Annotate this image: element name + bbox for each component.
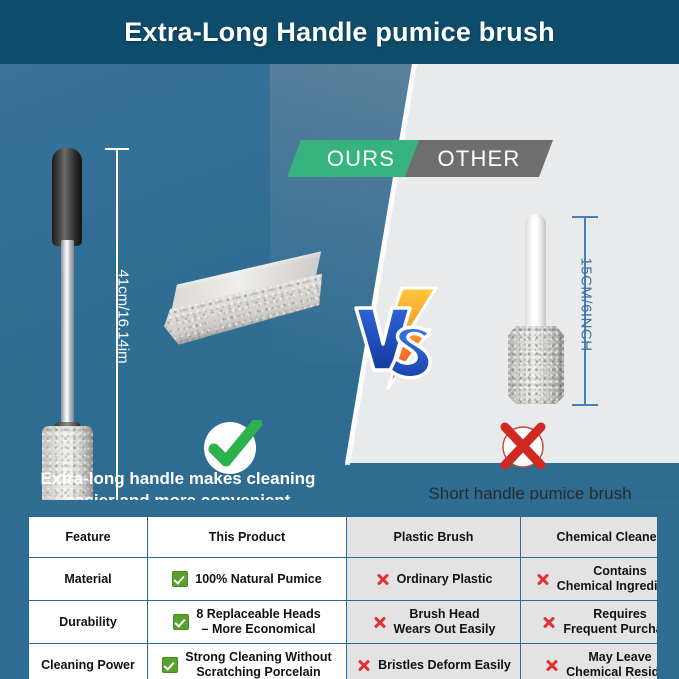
cell-text: Ordinary Plastic <box>397 572 493 587</box>
row-feature-label: Cleaning Power <box>29 644 148 679</box>
table-header-row: Feature This Product Plastic Brush Chemi… <box>29 517 661 558</box>
page-title: Extra-Long Handle pumice brush <box>124 17 555 48</box>
ribbon-other-label: OTHER <box>438 146 521 172</box>
dimension-bracket-other: 15CM/6INCH <box>572 216 598 406</box>
cell-text: May LeaveChemical Residue <box>566 650 660 679</box>
check-icon <box>173 614 189 630</box>
pumice-stone-block-image <box>155 250 339 348</box>
table-row: Material 100% Natural Pumice Ordinary Pl… <box>29 558 661 601</box>
cell-text: Brush HeadWears Out Easily <box>394 607 496 637</box>
check-icon <box>162 657 178 673</box>
check-icon <box>172 571 188 587</box>
cell-text: Bristles Deform Easily <box>378 658 511 673</box>
ribbon-ours-label: OURS <box>327 146 395 172</box>
ribbon-other: OTHER <box>405 140 553 177</box>
table-row: Cleaning Power Strong Cleaning WithoutSc… <box>29 644 661 679</box>
x-icon <box>375 572 390 587</box>
x-icon <box>372 615 387 630</box>
cell-chemical-cleaner: RequiresFrequent Purchase <box>521 601 661 644</box>
dimension-cap-bottom <box>572 404 598 406</box>
cell-this-product: 100% Natural Pumice <box>148 558 347 601</box>
cell-this-product: Strong Cleaning WithoutScratching Porcel… <box>148 644 347 679</box>
x-circle-icon <box>495 421 551 473</box>
row-feature-label: Material <box>29 558 148 601</box>
cell-chemical-cleaner: ContainsChemical Ingredients <box>521 558 661 601</box>
short-handle-brush-image <box>508 214 564 404</box>
infographic-page: Extra-Long Handle pumice brush OURS OTHE… <box>0 0 679 679</box>
dimension-bracket-ours: 41cm/16.14im <box>104 148 130 500</box>
row-feature-label: Durability <box>29 601 148 644</box>
column-header-plastic-brush: Plastic Brush <box>347 517 521 558</box>
cell-plastic-brush: Bristles Deform Easily <box>347 644 521 679</box>
x-icon <box>544 658 559 673</box>
table-row: Durability 8 Replaceable Heads– More Eco… <box>29 601 661 644</box>
short-brush-pumice-head <box>508 326 564 404</box>
short-brush-head-seam <box>534 326 535 398</box>
column-header-this-product: This Product <box>148 517 347 558</box>
cell-text: Strong Cleaning WithoutScratching Porcel… <box>185 650 331 679</box>
cell-text: 100% Natural Pumice <box>195 572 321 587</box>
cell-text: ContainsChemical Ingredients <box>557 564 660 594</box>
column-header-chemical-cleaner: Chemical Cleaner <box>521 517 661 558</box>
dimension-label-ours: 41cm/16.14im <box>115 262 132 372</box>
hero-stage: OURS OTHER 41cm/16.14im <box>0 64 679 500</box>
brush-handle-grip <box>52 148 82 246</box>
ours-caption: Extra-long handle makes cleaning easier … <box>18 468 338 500</box>
header-banner: Extra-Long Handle pumice brush <box>0 0 679 64</box>
cell-text: RequiresFrequent Purchase <box>563 607 660 637</box>
cell-plastic-brush: Brush HeadWears Out Easily <box>347 601 521 644</box>
long-handle-brush-image <box>36 148 98 500</box>
x-icon <box>541 615 556 630</box>
short-brush-handle <box>525 214 546 338</box>
cell-text: 8 Replaceable Heads– More Economical <box>196 607 320 637</box>
dimension-label-other: 15CM/6INCH <box>578 245 595 365</box>
vs-lightning-icon <box>352 286 438 390</box>
cell-chemical-cleaner: May LeaveChemical Residue <box>521 644 661 679</box>
column-header-feature: Feature <box>29 517 148 558</box>
x-icon <box>356 658 371 673</box>
comparison-table: Feature This Product Plastic Brush Chemi… <box>25 513 660 679</box>
cell-this-product: 8 Replaceable Heads– More Economical <box>148 601 347 644</box>
other-caption: Short handle pumice brush <box>390 484 670 500</box>
brush-steel-shaft <box>61 240 74 430</box>
cell-plastic-brush: Ordinary Plastic <box>347 558 521 601</box>
x-icon <box>535 572 550 587</box>
